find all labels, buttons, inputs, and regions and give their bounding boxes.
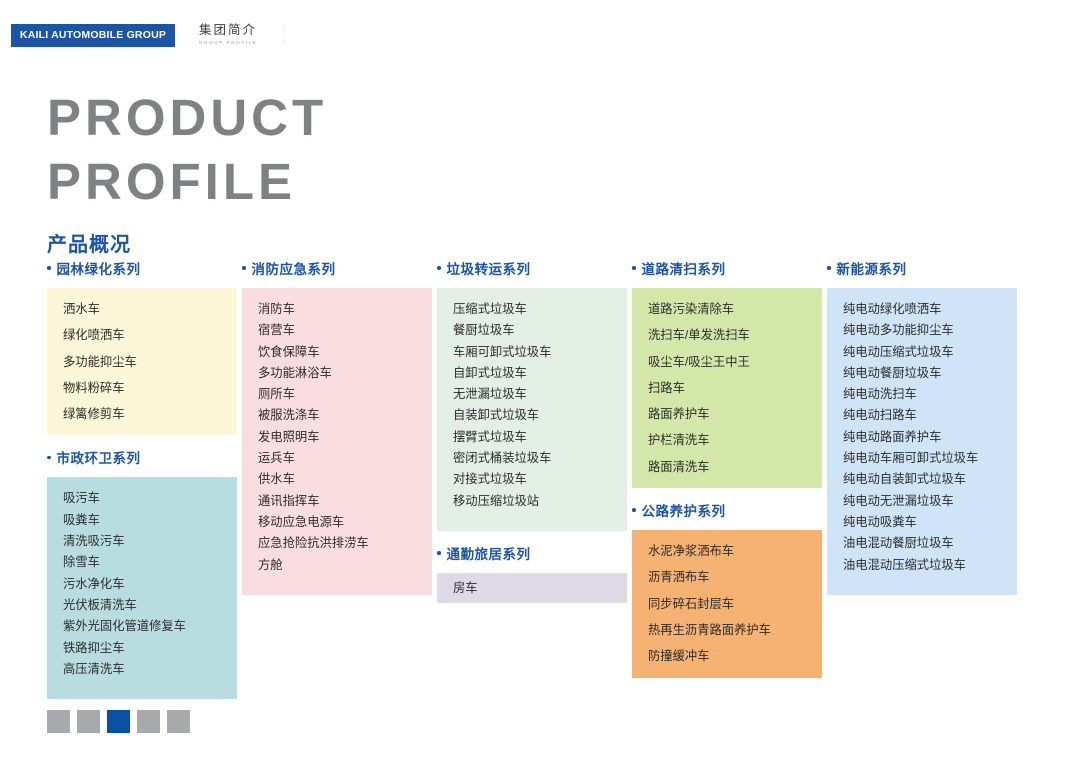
product-item[interactable]: 扫路车 xyxy=(648,382,822,394)
product-item[interactable]: 铁路抑尘车 xyxy=(63,642,237,654)
category-group: 新能源系列纯电动绿化喷洒车纯电动多功能抑尘车纯电动压缩式垃圾车纯电动餐厨垃圾车纯… xyxy=(827,258,1017,595)
pager-dot[interactable] xyxy=(137,710,160,733)
product-item[interactable]: 道路污染清除车 xyxy=(648,303,822,315)
product-item[interactable]: 移动应急电源车 xyxy=(258,516,432,528)
product-item[interactable]: 吸尘车/吸尘王中王 xyxy=(648,356,822,368)
product-item[interactable]: 路面清洗车 xyxy=(648,461,822,473)
category-panel: 水泥净浆洒布车沥青洒布车同步碎石封层车热再生沥青路面养护车防撞缓冲车 xyxy=(632,530,822,677)
product-item[interactable]: 除雪车 xyxy=(63,556,237,568)
product-item[interactable]: 移动压缩垃圾站 xyxy=(453,495,627,507)
category-group-heading[interactable]: 通勤旅居系列 xyxy=(437,543,627,563)
category-column: 道路清扫系列道路污染清除车洗扫车/单发洗扫车吸尘车/吸尘王中王扫路车路面养护车护… xyxy=(632,258,822,711)
category-group-heading-label: 新能源系列 xyxy=(837,258,907,278)
pager-dot[interactable] xyxy=(47,710,70,733)
product-item[interactable]: 纯电动吸粪车 xyxy=(843,516,1017,528)
product-item[interactable]: 应急抢险抗洪排涝车 xyxy=(258,537,432,549)
category-group-heading[interactable]: 垃圾转运系列 xyxy=(437,258,627,278)
product-item[interactable]: 多功能淋浴车 xyxy=(258,367,432,379)
category-group: 通勤旅居系列房车 xyxy=(437,543,627,603)
header-label-en: GROUP PROFILE xyxy=(199,41,258,46)
page-subtitle: 产品概况 xyxy=(47,228,327,257)
bullet-dot-icon xyxy=(632,508,636,512)
product-item[interactable]: 纯电动多功能抑尘车 xyxy=(843,324,1017,336)
bullet-dot-icon xyxy=(47,266,51,270)
category-column: 垃圾转运系列压缩式垃圾车餐厨垃圾车车厢可卸式垃圾车自卸式垃圾车无泄漏垃圾车自装卸… xyxy=(437,258,627,711)
product-item[interactable]: 油电混动压缩式垃圾车 xyxy=(843,559,1017,571)
product-item[interactable]: 自装卸式垃圾车 xyxy=(453,409,627,421)
product-item[interactable]: 护栏清洗车 xyxy=(648,434,822,446)
product-item[interactable]: 纯电动洗扫车 xyxy=(843,388,1017,400)
product-item[interactable]: 清洗吸污车 xyxy=(63,535,237,547)
product-item[interactable]: 纯电动压缩式垃圾车 xyxy=(843,346,1017,358)
product-item[interactable]: 防撞缓冲车 xyxy=(648,650,822,662)
product-item[interactable]: 纯电动无泄漏垃圾车 xyxy=(843,495,1017,507)
category-panel: 压缩式垃圾车餐厨垃圾车车厢可卸式垃圾车自卸式垃圾车无泄漏垃圾车自装卸式垃圾车摆臂… xyxy=(437,288,627,531)
product-item[interactable]: 纯电动扫路车 xyxy=(843,409,1017,421)
product-item[interactable]: 紫外光固化管道修复车 xyxy=(63,620,237,632)
product-item[interactable]: 路面养护车 xyxy=(648,408,822,420)
product-item[interactable]: 对接式垃圾车 xyxy=(453,473,627,485)
product-item[interactable]: 物料粉碎车 xyxy=(63,382,237,394)
category-group: 园林绿化系列洒水车绿化喷洒车多功能抑尘车物料粉碎车绿篱修剪车 xyxy=(47,258,237,435)
category-group-heading-label: 消防应急系列 xyxy=(252,258,336,278)
category-column: 园林绿化系列洒水车绿化喷洒车多功能抑尘车物料粉碎车绿篱修剪车市政环卫系列吸污车吸… xyxy=(47,258,237,711)
product-item[interactable]: 纯电动车厢可卸式垃圾车 xyxy=(843,452,1017,464)
product-item[interactable]: 纯电动绿化喷洒车 xyxy=(843,303,1017,315)
category-column: 消防应急系列消防车宿营车饮食保障车多功能淋浴车厕所车被服洗涤车发电照明车运兵车供… xyxy=(242,258,432,711)
category-group: 垃圾转运系列压缩式垃圾车餐厨垃圾车车厢可卸式垃圾车自卸式垃圾车无泄漏垃圾车自装卸… xyxy=(437,258,627,531)
product-item[interactable]: 油电混动餐厨垃圾车 xyxy=(843,537,1017,549)
product-item[interactable]: 水泥净浆洒布车 xyxy=(648,545,822,557)
product-item[interactable]: 绿篱修剪车 xyxy=(63,408,237,420)
product-item[interactable]: 绿化喷洒车 xyxy=(63,329,237,341)
category-column: 新能源系列纯电动绿化喷洒车纯电动多功能抑尘车纯电动压缩式垃圾车纯电动餐厨垃圾车纯… xyxy=(827,258,1017,711)
product-item[interactable]: 多功能抑尘车 xyxy=(63,356,237,368)
product-item[interactable]: 沥青洒布车 xyxy=(648,571,822,583)
category-group-heading-label: 垃圾转运系列 xyxy=(447,258,531,278)
product-item[interactable]: 通讯指挥车 xyxy=(258,495,432,507)
bullet-dot-icon xyxy=(47,456,51,460)
product-category-columns: 园林绿化系列洒水车绿化喷洒车多功能抑尘车物料粉碎车绿篱修剪车市政环卫系列吸污车吸… xyxy=(47,258,1037,711)
header-divider-icon xyxy=(284,26,315,44)
product-item[interactable]: 无泄漏垃圾车 xyxy=(453,388,627,400)
bullet-dot-icon xyxy=(632,266,636,270)
product-item[interactable]: 发电照明车 xyxy=(258,431,432,443)
product-item[interactable]: 吸粪车 xyxy=(63,514,237,526)
product-item[interactable]: 消防车 xyxy=(258,303,432,315)
product-item[interactable]: 运兵车 xyxy=(258,452,432,464)
category-panel: 消防车宿营车饮食保障车多功能淋浴车厕所车被服洗涤车发电照明车运兵车供水车通讯指挥… xyxy=(242,288,432,595)
product-item[interactable]: 车厢可卸式垃圾车 xyxy=(453,346,627,358)
category-group-heading-label: 园林绿化系列 xyxy=(57,258,141,278)
product-item[interactable]: 洒水车 xyxy=(63,303,237,315)
category-group: 道路清扫系列道路污染清除车洗扫车/单发洗扫车吸尘车/吸尘王中王扫路车路面养护车护… xyxy=(632,258,822,488)
product-item[interactable]: 宿营车 xyxy=(258,324,432,336)
page-title-line-2: PROFILE xyxy=(47,150,327,214)
product-item[interactable]: 污水净化车 xyxy=(63,578,237,590)
product-item[interactable]: 热再生沥青路面养护车 xyxy=(648,624,822,636)
brand-logo-text: KAILI AUTOMOBILE GROUP xyxy=(20,29,166,41)
product-item[interactable]: 光伏板清洗车 xyxy=(63,599,237,611)
category-group-heading[interactable]: 道路清扫系列 xyxy=(632,258,822,278)
product-item[interactable]: 供水车 xyxy=(258,473,432,485)
product-item[interactable]: 房车 xyxy=(453,582,627,594)
category-group: 公路养护系列水泥净浆洒布车沥青洒布车同步碎石封层车热再生沥青路面养护车防撞缓冲车 xyxy=(632,500,822,677)
category-panel: 吸污车吸粪车清洗吸污车除雪车污水净化车光伏板清洗车紫外光固化管道修复车铁路抑尘车… xyxy=(47,477,237,699)
bullet-dot-icon xyxy=(827,266,831,270)
product-item[interactable]: 吸污车 xyxy=(63,492,237,504)
product-item[interactable]: 摆臂式垃圾车 xyxy=(453,431,627,443)
category-group-heading[interactable]: 新能源系列 xyxy=(827,258,1017,278)
product-item[interactable]: 密闭式桶装垃圾车 xyxy=(453,452,627,464)
product-item[interactable]: 洗扫车/单发洗扫车 xyxy=(648,329,822,341)
product-item[interactable]: 纯电动自装卸式垃圾车 xyxy=(843,473,1017,485)
category-panel: 道路污染清除车洗扫车/单发洗扫车吸尘车/吸尘王中王扫路车路面养护车护栏清洗车路面… xyxy=(632,288,822,488)
category-panel: 纯电动绿化喷洒车纯电动多功能抑尘车纯电动压缩式垃圾车纯电动餐厨垃圾车纯电动洗扫车… xyxy=(827,288,1017,595)
category-panel: 房车 xyxy=(437,573,627,603)
product-item[interactable]: 餐厨垃圾车 xyxy=(453,324,627,336)
bullet-dot-icon xyxy=(437,266,441,270)
product-item[interactable]: 压缩式垃圾车 xyxy=(453,303,627,315)
product-item[interactable]: 纯电动餐厨垃圾车 xyxy=(843,367,1017,379)
header-label-cn: 集团简介 xyxy=(199,24,258,37)
category-group-heading[interactable]: 公路养护系列 xyxy=(632,500,822,520)
category-group-heading-label: 通勤旅居系列 xyxy=(447,543,531,563)
product-item[interactable]: 高压清洗车 xyxy=(63,663,237,675)
page-title-line-1: PRODUCT xyxy=(47,86,327,150)
product-item[interactable]: 饮食保障车 xyxy=(258,346,432,358)
product-item[interactable]: 方舱 xyxy=(258,559,432,571)
page-header: KAILI AUTOMOBILE GROUP 集团简介 GROUP PROFIL… xyxy=(12,18,1068,52)
category-group: 消防应急系列消防车宿营车饮食保障车多功能淋浴车厕所车被服洗涤车发电照明车运兵车供… xyxy=(242,258,432,595)
category-group-heading[interactable]: 消防应急系列 xyxy=(242,258,432,278)
pager-dot[interactable] xyxy=(167,710,190,733)
category-group-heading[interactable]: 市政环卫系列 xyxy=(47,447,237,467)
slide-pager xyxy=(47,710,190,733)
page-title: PRODUCT PROFILE 产品概况 xyxy=(47,86,327,257)
bullet-dot-icon xyxy=(437,551,441,555)
product-item[interactable]: 被服洗涤车 xyxy=(258,409,432,421)
header-section-label: 集团简介 GROUP PROFILE xyxy=(199,24,258,45)
category-group-heading[interactable]: 园林绿化系列 xyxy=(47,258,237,278)
category-group-heading-label: 公路养护系列 xyxy=(642,500,726,520)
product-item[interactable]: 厕所车 xyxy=(258,388,432,400)
category-group-heading-label: 市政环卫系列 xyxy=(57,447,141,467)
category-group-heading-label: 道路清扫系列 xyxy=(642,258,726,278)
bullet-dot-icon xyxy=(242,266,246,270)
pager-dot[interactable] xyxy=(77,710,100,733)
brand-logo-badge: KAILI AUTOMOBILE GROUP xyxy=(12,25,174,46)
product-item[interactable]: 纯电动路面养护车 xyxy=(843,431,1017,443)
product-item[interactable]: 自卸式垃圾车 xyxy=(453,367,627,379)
product-item[interactable]: 同步碎石封层车 xyxy=(648,598,822,610)
pager-dot[interactable] xyxy=(107,710,130,733)
category-panel: 洒水车绿化喷洒车多功能抑尘车物料粉碎车绿篱修剪车 xyxy=(47,288,237,435)
category-group: 市政环卫系列吸污车吸粪车清洗吸污车除雪车污水净化车光伏板清洗车紫外光固化管道修复… xyxy=(47,447,237,699)
